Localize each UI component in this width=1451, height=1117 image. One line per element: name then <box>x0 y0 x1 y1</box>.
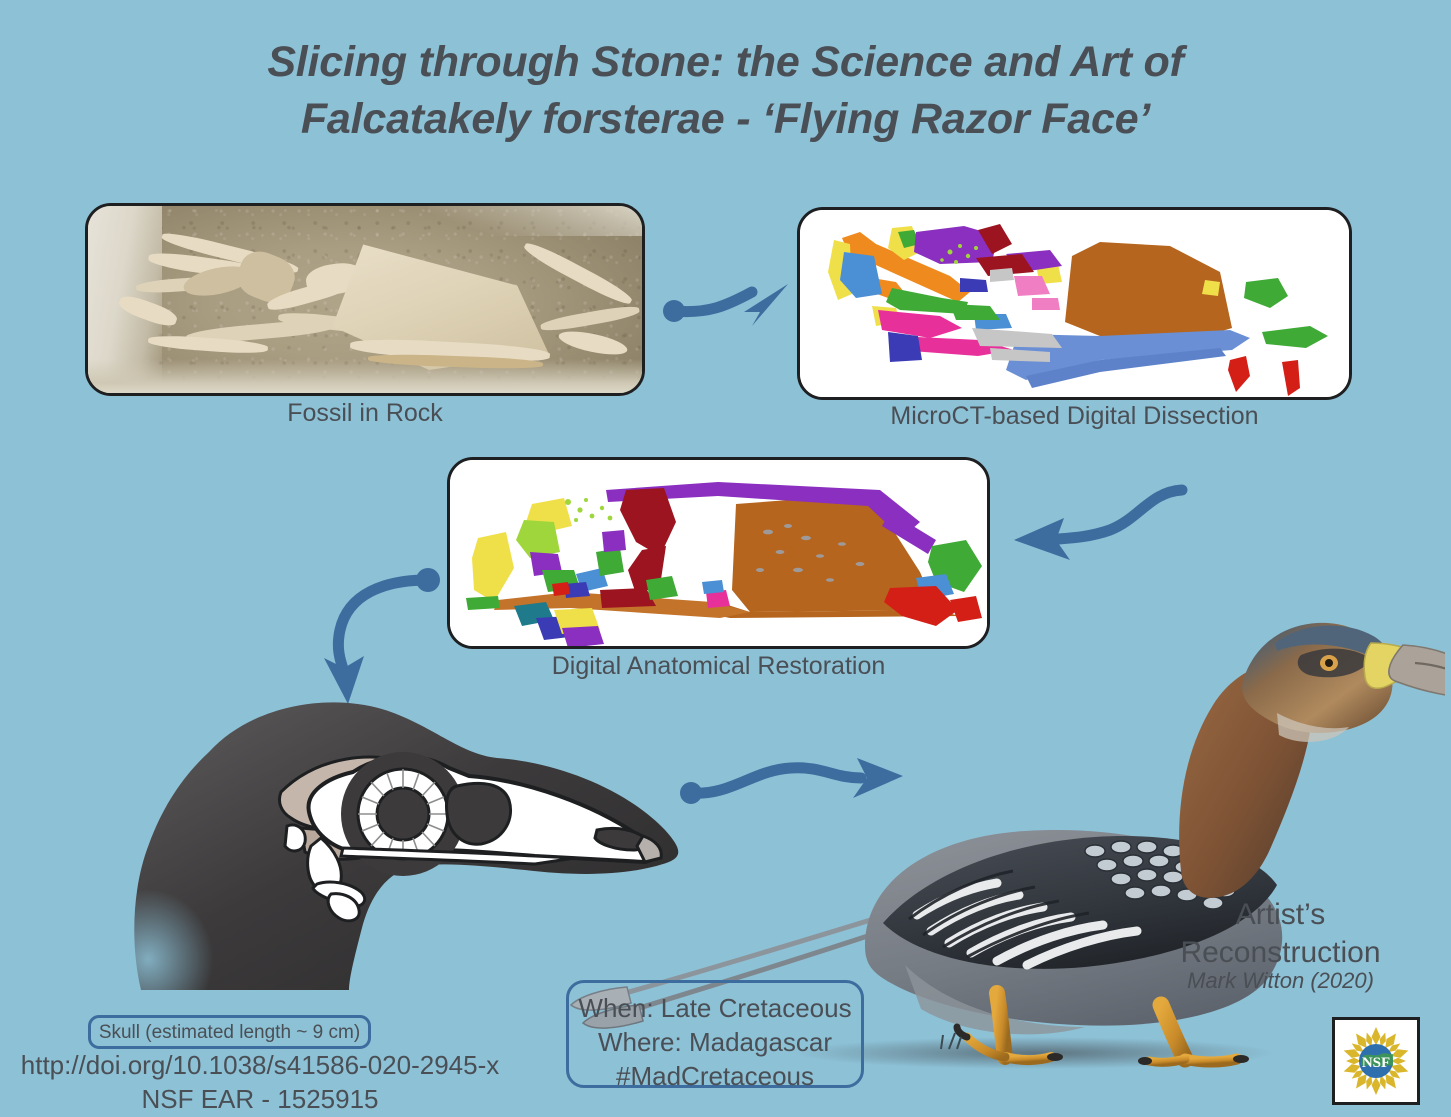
where-line: Where: Madagascar <box>569 1025 861 1059</box>
panel-microct-dissection[interactable] <box>797 207 1352 400</box>
nsf-logo-graphic: NSF <box>1335 1020 1417 1102</box>
poster-canvas: Slicing through Stone: the Science and A… <box>0 0 1451 1117</box>
pupil <box>1325 659 1333 667</box>
head-fade <box>125 850 255 990</box>
hashtag-line: #MadCretaceous <box>569 1059 861 1093</box>
grant-number: NSF EAR - 1525915 <box>0 1084 520 1115</box>
rock-edge-top <box>428 203 645 236</box>
title-line-1: Slicing through Stone: the Science and A… <box>267 38 1183 86</box>
when-where-box: When: Late Cretaceous Where: Madagascar … <box>566 980 864 1088</box>
page-title: Slicing through Stone: the Science and A… <box>0 34 1451 148</box>
arrow-microct-to-restoration <box>1000 418 1185 568</box>
caption-fossil-in-rock: Fossil in Rock <box>85 399 645 428</box>
antorbital-fenestra <box>446 783 510 844</box>
artist-credit: Mark Witton (2020) <box>1148 968 1413 994</box>
microct-render <box>800 210 1349 397</box>
arrow-fossil-to-microct <box>660 268 810 338</box>
occipital-process <box>285 825 305 851</box>
microct-segments <box>800 210 1352 400</box>
panel-fossil-photo[interactable] <box>85 203 645 396</box>
title-line-2: Falcatakely forsterae - ‘Flying Razor Fa… <box>0 91 1451 148</box>
nsf-logo[interactable]: NSF <box>1332 1017 1420 1105</box>
nsf-wordmark: NSF <box>1362 1055 1390 1071</box>
artist-line-2: Reconstruction <box>1180 936 1380 969</box>
doi-link[interactable]: http://doi.org/10.1038/s41586-020-2945-x <box>0 1050 520 1081</box>
artist-reconstruction-label: Artist’s Reconstruction <box>1148 896 1413 972</box>
rock-edge-bottom <box>88 359 645 396</box>
when-line: When: Late Cretaceous <box>569 991 861 1025</box>
eye-socket <box>377 788 429 840</box>
beak-tip <box>1389 645 1445 697</box>
artist-line-1: Artist’s <box>1236 898 1325 931</box>
skull-length-label: Skull (estimated length ~ 9 cm) <box>88 1015 371 1049</box>
